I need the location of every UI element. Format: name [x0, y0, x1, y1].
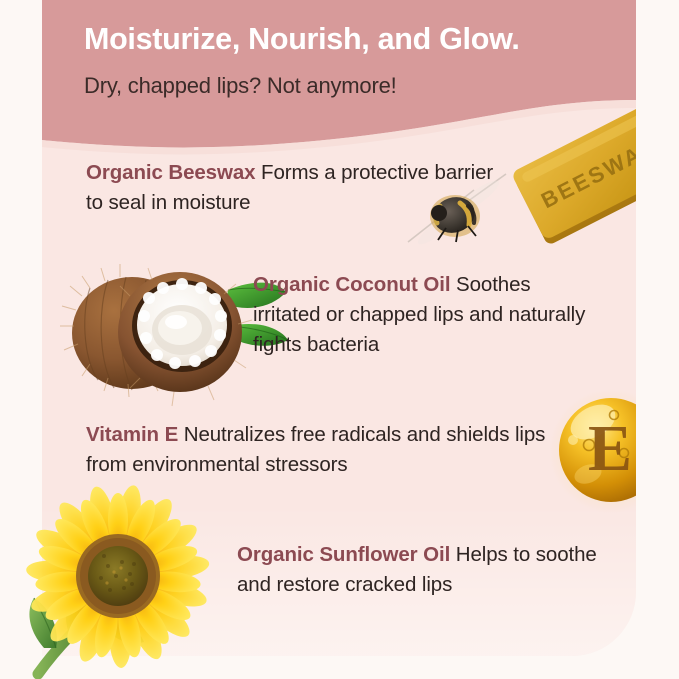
ingredient-name-vitamin-e: Vitamin E	[86, 423, 178, 446]
vitamin-e-letter: E	[588, 412, 632, 485]
ingredient-name-beeswax: Organic Beeswax	[86, 161, 255, 184]
beeswax-bar-image: BEESWAX	[507, 110, 636, 260]
sunflower-image	[4, 488, 236, 679]
sunflower-center	[76, 534, 160, 618]
ingredient-text-vitamin-e: Vitamin E Neutralizes free radicals and …	[86, 420, 556, 480]
ingredient-text-beeswax: Organic Beeswax Forms a protective barri…	[86, 158, 506, 218]
ingredient-name-sunflower-oil: Organic Sunflower Oil	[237, 543, 450, 566]
ingredient-name-coconut-oil: Organic Coconut Oil	[253, 273, 450, 296]
page-subtitle: Dry, chapped lips? Not anymore!	[84, 73, 397, 99]
vitamin-e-capsule-image: E	[548, 388, 636, 514]
page-title: Moisturize, Nourish, and Glow.	[84, 22, 520, 57]
infographic-canvas: Moisturize, Nourish, and Glow. Dry, chap…	[0, 0, 679, 679]
ingredient-text-coconut-oil: Organic Coconut Oil Soothes irritated or…	[253, 270, 603, 360]
ingredient-text-sunflower-oil: Organic Sunflower Oil Helps to soothe an…	[237, 540, 597, 600]
